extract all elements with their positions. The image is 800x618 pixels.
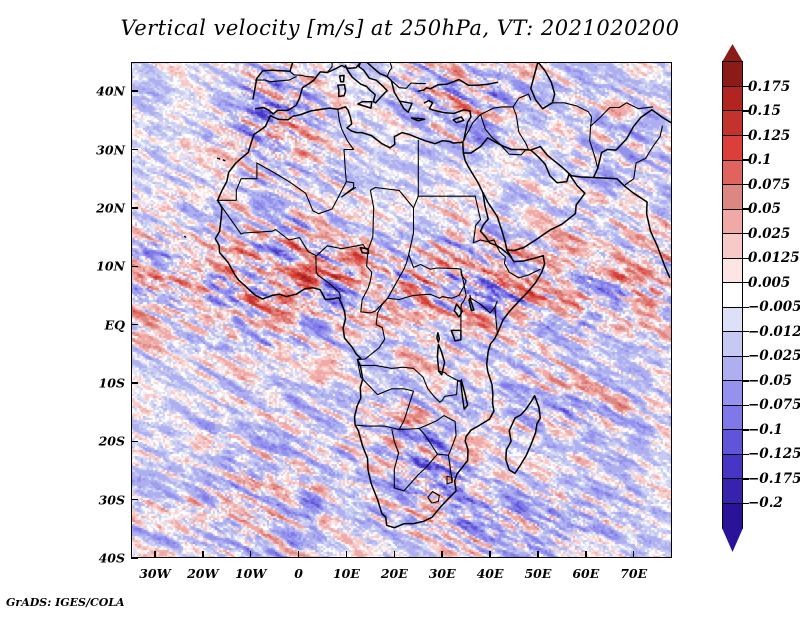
map-outline-path [218, 158, 220, 159]
map-outline-path [316, 256, 341, 298]
y-axis-label: 20S [73, 434, 125, 449]
map-outline-path [461, 380, 468, 409]
y-axis-label: 20N [73, 200, 125, 215]
page-title: Vertical velocity [m/s] at 250hPa, VT: 2… [0, 16, 800, 40]
map-outline-path [257, 163, 319, 214]
map-outline-path [473, 196, 494, 243]
y-axis-label: 10N [73, 259, 125, 274]
map-outline-path [300, 238, 316, 257]
map-outline-path [256, 77, 297, 82]
map-outline-path [290, 71, 314, 77]
colorbar-label: −0.05 [748, 373, 792, 389]
colorbar-band [722, 331, 743, 357]
colorbar-band [722, 478, 743, 504]
x-axis-label: 10E [333, 566, 360, 581]
colorbar-label: 0.05 [748, 201, 781, 217]
colorbar-label: −0.075 [748, 397, 800, 413]
colorbar-band [722, 503, 743, 529]
colorbar-label: 0.15 [748, 103, 781, 119]
map-outline-path [358, 365, 413, 429]
map-outline-path [256, 62, 413, 114]
map-outline-path [463, 138, 585, 251]
colorbar-label: 0.0125 [748, 250, 800, 266]
map-outline-path [215, 107, 544, 528]
colorbar-band [722, 61, 743, 87]
colorbar-band [722, 233, 743, 259]
colorbar-label: −0.175 [748, 471, 800, 487]
colorbar-band [722, 110, 743, 136]
map-outline-path [412, 118, 425, 121]
map-outline-path [495, 307, 497, 333]
map-outline-path [531, 62, 555, 109]
map-outline-path [388, 294, 440, 299]
map-outline-path [340, 75, 344, 81]
map-outline-path [392, 430, 399, 488]
colorbar-cap-bottom [722, 528, 743, 552]
colorbar-label: 0.1 [748, 152, 772, 168]
map-outline-path [319, 182, 356, 214]
map-outline-path [391, 81, 425, 89]
x-axis-label: 20W [187, 566, 218, 581]
colorbar-label: −0.025 [748, 348, 800, 364]
colorbar-band [722, 380, 743, 406]
map-outline-path [358, 102, 372, 108]
map-outline-path [409, 255, 466, 299]
map-outline-path [506, 396, 540, 474]
colorbar-band [722, 184, 743, 210]
map-outline-path [394, 454, 437, 491]
map-outline-path [185, 237, 186, 238]
map-outline-path [453, 117, 464, 123]
colorbar-label: −0.2 [748, 495, 783, 511]
map-outline-path [513, 94, 531, 107]
y-axis-label: 30S [73, 492, 125, 507]
x-axis-label: 70E [620, 566, 647, 581]
map-outline-path [414, 140, 419, 208]
x-axis-label: 0 [294, 566, 303, 581]
y-axis-label: 40S [73, 551, 125, 566]
map-outline-path [464, 107, 513, 141]
x-axis-label: 50E [524, 566, 551, 581]
map-outline-path [316, 245, 388, 313]
colorbar-label: 0.175 [748, 79, 790, 95]
colorbar-band [722, 454, 743, 480]
y-axis-label: 40N [73, 84, 125, 99]
y-axis-label: 30N [73, 142, 125, 157]
map-outline-path [437, 333, 439, 342]
map-outline-path [217, 163, 257, 200]
colorbar-band [722, 209, 743, 235]
colorbar-label: 0.075 [748, 177, 790, 193]
colorbar-label: −0.0125 [748, 324, 800, 340]
colorbar [722, 62, 743, 528]
colorbar-label: 0.125 [748, 128, 790, 144]
colorbar-label: −0.1 [748, 422, 783, 438]
map-outline-path [594, 110, 673, 178]
x-axis-label: 30W [139, 566, 170, 581]
map-outline-path [355, 425, 419, 430]
colorbar-band [722, 429, 743, 455]
map-outline-path [418, 80, 497, 92]
map-outline-path [217, 200, 299, 240]
y-axis-label: EQ [73, 317, 125, 332]
coastline-overlay [131, 62, 672, 558]
y-axis-label: 10S [73, 375, 125, 390]
map-outline-path [428, 492, 440, 504]
map-outline-path [358, 298, 388, 359]
map-outline-path [624, 126, 662, 186]
map-outline-path [358, 360, 461, 403]
map-outline-path [451, 330, 461, 341]
colorbar-label: 0.025 [748, 226, 790, 242]
colorbar-cap-top [722, 44, 743, 62]
colorbar-band [722, 258, 743, 284]
colorbar-band [722, 307, 743, 333]
x-axis-label: 10W [235, 566, 266, 581]
map-outline-path [338, 85, 346, 97]
x-axis-label: 60E [572, 566, 599, 581]
colorbar-band [722, 405, 743, 431]
colorbar-label: −0.125 [748, 446, 800, 462]
map-outline-path [223, 160, 224, 161]
map-outline-path [531, 147, 670, 278]
colorbar-label: 0.005 [748, 275, 790, 291]
map-outline-path [419, 416, 456, 456]
map-plot-area [131, 62, 672, 558]
colorbar-band [722, 356, 743, 382]
attribution-text: GrADS: IGES/COLA [6, 596, 125, 609]
x-axis-label: 30E [429, 566, 456, 581]
map-outline-path [552, 103, 598, 168]
colorbar-band [722, 160, 743, 186]
map-outline-path [591, 103, 653, 126]
map-outline-path [368, 188, 414, 299]
colorbar-band [722, 282, 743, 308]
colorbar-band [722, 86, 743, 112]
x-axis-label: 40E [477, 566, 504, 581]
colorbar-label: −0.005 [748, 299, 800, 315]
map-outline-path [513, 107, 528, 150]
colorbar-band [722, 135, 743, 161]
x-axis-label: 20E [381, 566, 408, 581]
